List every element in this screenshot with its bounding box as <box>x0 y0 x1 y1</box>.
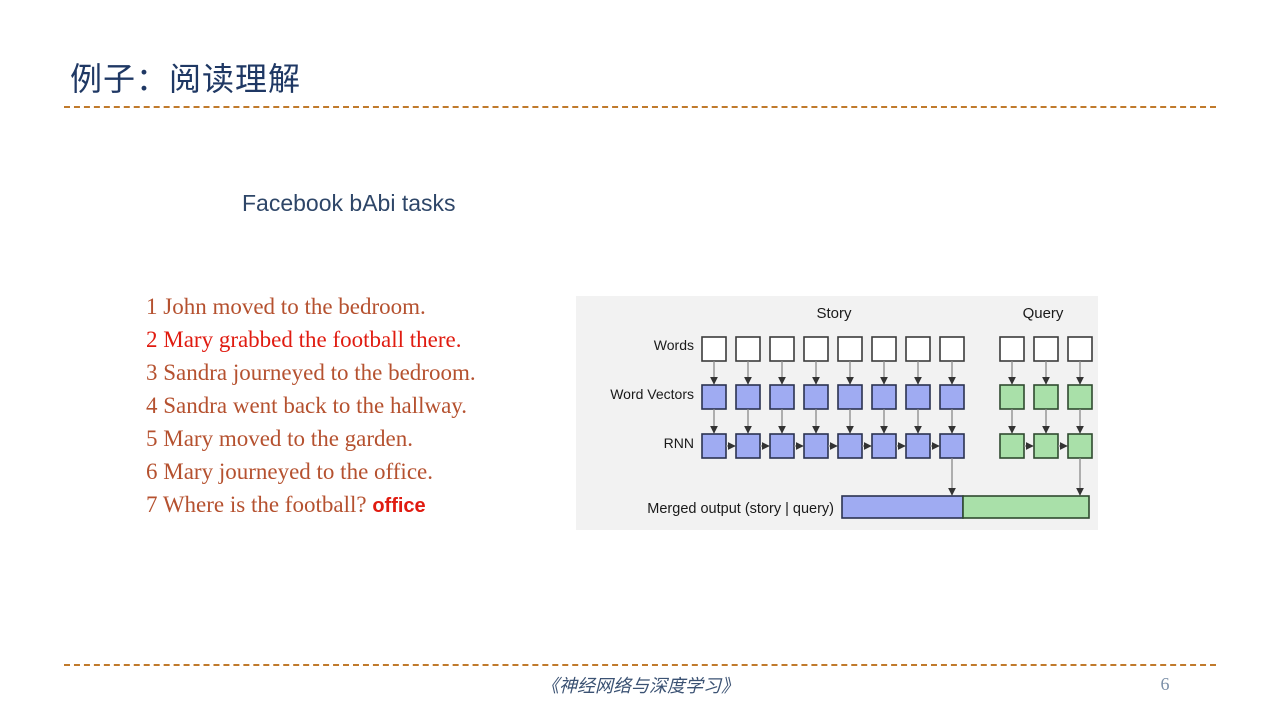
story-line: 6 Mary journeyed to the office. <box>146 455 566 488</box>
word-box <box>770 337 794 361</box>
diagram-label-query: Query <box>1023 305 1064 322</box>
rnn-box <box>736 434 760 458</box>
story-line: 3 Sandra journeyed to the bedroom. <box>146 356 566 389</box>
word-box <box>838 337 862 361</box>
story-question-line: 7 Where is the football? office <box>146 488 566 523</box>
word-box <box>872 337 896 361</box>
word-vector-box <box>736 385 760 409</box>
diagram-label-word-vectors: Word Vectors <box>610 386 694 402</box>
page-number: 6 <box>1140 674 1190 695</box>
rnn-box <box>1000 434 1024 458</box>
rnn-box <box>1034 434 1058 458</box>
word-box <box>1068 337 1092 361</box>
word-vector-box <box>804 385 828 409</box>
diagram-label-rnn: RNN <box>664 435 694 451</box>
merged-output-story-bar <box>842 496 963 518</box>
rnn-box <box>702 434 726 458</box>
word-vector-box <box>906 385 930 409</box>
word-box <box>804 337 828 361</box>
diagram-label-merged-output: Merged output (story | query) <box>647 501 834 517</box>
rnn-box <box>940 434 964 458</box>
query-column-group <box>1000 337 1092 495</box>
story-column-group <box>702 337 964 495</box>
word-vector-box <box>770 385 794 409</box>
story-line: 4 Sandra went back to the hallway. <box>146 389 566 422</box>
word-box <box>1034 337 1058 361</box>
rnn-box <box>872 434 896 458</box>
word-box <box>702 337 726 361</box>
story-text-block: 1 John moved to the bedroom. 2 Mary grab… <box>146 290 566 523</box>
babi-architecture-diagram: Story Query Words Word Vectors RNN Merge… <box>576 296 1098 530</box>
diagram-label-words: Words <box>654 337 694 353</box>
question-text: 7 Where is the football? <box>146 492 367 517</box>
word-vector-box <box>940 385 964 409</box>
rnn-box <box>838 434 862 458</box>
rnn-box <box>906 434 930 458</box>
diagram-label-story: Story <box>816 305 852 322</box>
word-vector-box <box>838 385 862 409</box>
dataset-subtitle: Facebook bAbi tasks <box>242 190 456 217</box>
footer-book-title: 《神经网络与深度学习》 <box>0 672 1280 698</box>
word-vector-box <box>1034 385 1058 409</box>
page-title: 例子：阅读理解 <box>70 54 301 100</box>
footer-divider <box>64 664 1216 666</box>
rnn-box <box>770 434 794 458</box>
story-line-highlighted: 2 Mary grabbed the football there. <box>146 323 566 356</box>
word-vector-box <box>1068 385 1092 409</box>
story-line: 1 John moved to the bedroom. <box>146 290 566 323</box>
word-vector-box <box>872 385 896 409</box>
word-box <box>906 337 930 361</box>
word-vector-box <box>702 385 726 409</box>
header-divider <box>64 106 1216 108</box>
answer-text: office <box>372 495 425 517</box>
rnn-box <box>804 434 828 458</box>
word-box <box>736 337 760 361</box>
rnn-box <box>1068 434 1092 458</box>
word-box <box>940 337 964 361</box>
story-line: 5 Mary moved to the garden. <box>146 422 566 455</box>
merged-output-query-bar <box>963 496 1089 518</box>
word-box <box>1000 337 1024 361</box>
word-vector-box <box>1000 385 1024 409</box>
